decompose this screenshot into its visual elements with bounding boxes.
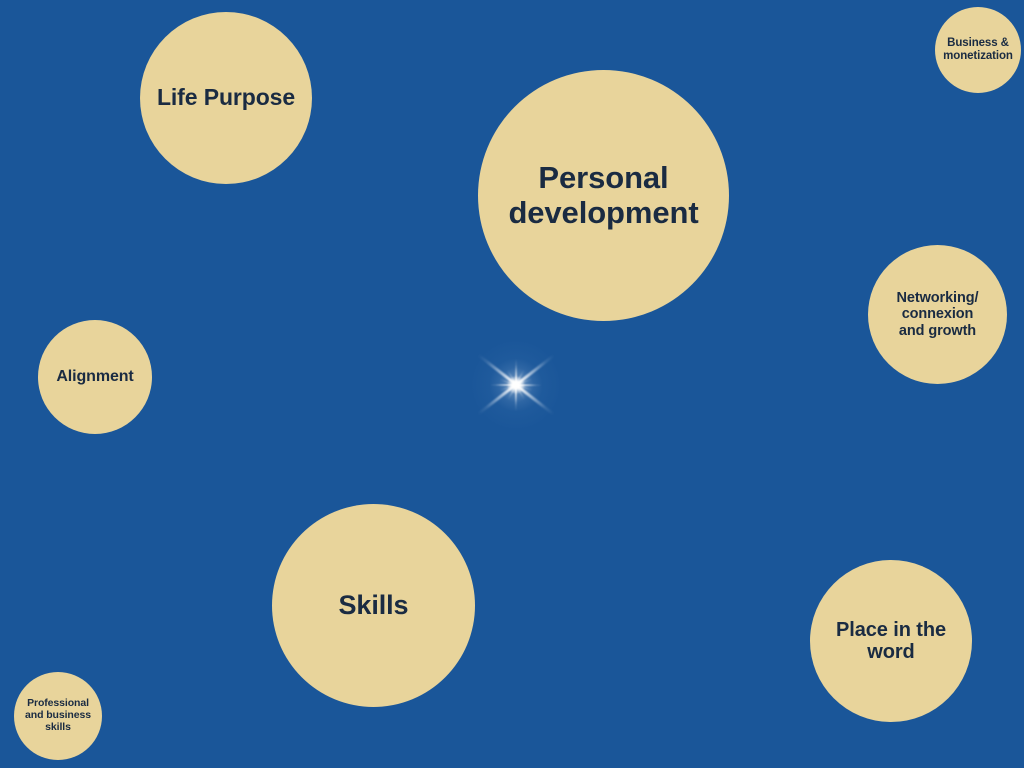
sparkle-ray	[477, 384, 517, 416]
sparkle-ray	[515, 385, 517, 411]
sparkle-ray	[490, 384, 516, 386]
bubble-professional-business-skills-label: Professional and business skills	[25, 698, 91, 733]
sparkle-core	[507, 376, 525, 394]
bubble-life-purpose-label: Life Purpose	[157, 85, 295, 111]
sparkle-ray	[515, 359, 517, 385]
bubble-business-monetization-label: Business & monetization	[943, 37, 1013, 63]
bubble-business-monetization[interactable]: Business & monetization	[935, 7, 1021, 93]
sparkle-glow	[470, 339, 562, 431]
slide-canvas: Life Purpose Business & monetization Per…	[0, 0, 1024, 768]
sparkle-ray	[516, 384, 542, 386]
bubble-personal-development-label: Personal development	[508, 161, 698, 230]
bubble-alignment[interactable]: Alignment	[38, 320, 152, 434]
sparkle-ray	[507, 370, 517, 386]
bubble-place-in-the-word[interactable]: Place in the word	[810, 560, 972, 722]
sparkle-ray	[515, 384, 555, 416]
sparkle-ray	[500, 379, 517, 386]
bubble-networking-connexion-growth-label: Networking/ connexion and growth	[897, 290, 979, 339]
bubble-skills-label: Skills	[339, 590, 409, 620]
sparkle-ray	[500, 384, 517, 391]
bubble-personal-development[interactable]: Personal development	[478, 70, 729, 321]
bubble-life-purpose[interactable]: Life Purpose	[140, 12, 312, 184]
sparkle-ray	[516, 379, 533, 386]
bubble-professional-business-skills[interactable]: Professional and business skills	[14, 672, 102, 760]
sparkle-ray	[516, 384, 533, 391]
bubble-place-in-the-word-label: Place in the word	[836, 619, 946, 664]
sparkle-ray	[515, 370, 525, 386]
bubble-alignment-label: Alignment	[56, 368, 133, 386]
sparkle-ray	[515, 354, 555, 386]
sparkle-ray	[477, 354, 517, 386]
sparkle-ray	[507, 385, 517, 401]
bubble-networking-connexion-growth[interactable]: Networking/ connexion and growth	[868, 245, 1007, 384]
sparkle-ray	[515, 385, 525, 401]
bubble-skills[interactable]: Skills	[272, 504, 475, 707]
